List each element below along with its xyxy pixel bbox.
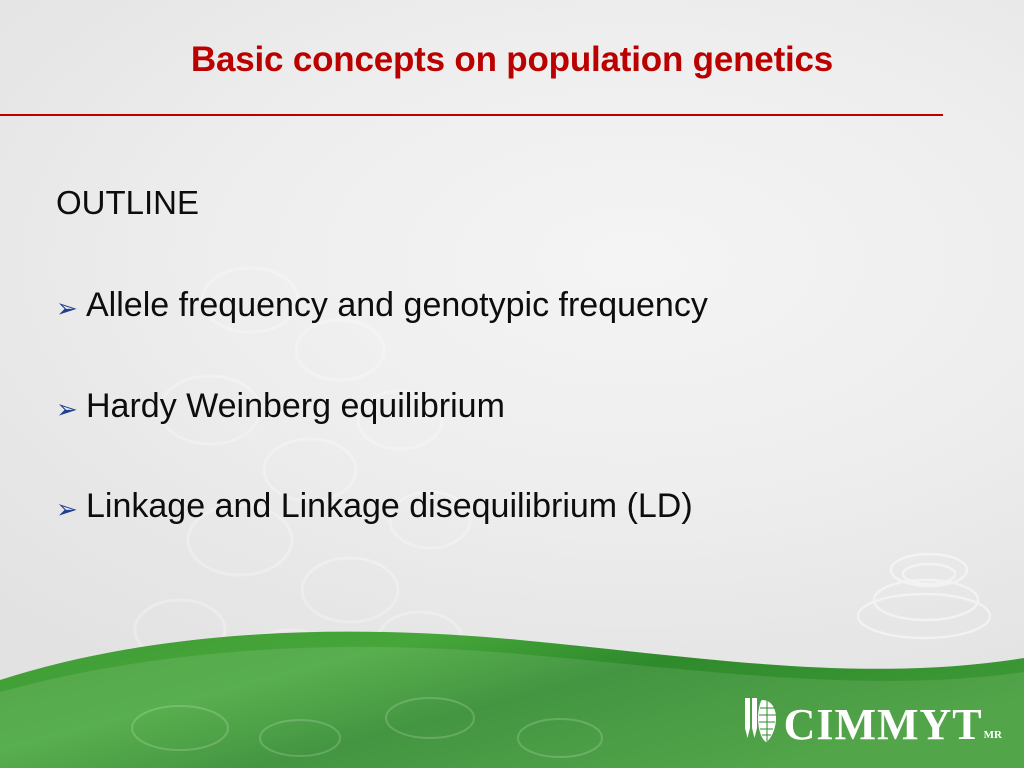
list-item-label: Hardy Weinberg equilibrium [86,388,505,425]
list-item: ➢ Allele frequency and genotypic frequen… [56,287,986,324]
chevron-bullet-icon: ➢ [56,388,86,423]
cimmyt-logo: CIMMYT MR [742,694,1002,746]
list-item-label: Linkage and Linkage disequilibrium (LD) [86,488,693,525]
logo-trademark: MR [983,729,1002,746]
list-item-label: Allele frequency and genotypic frequency [86,287,708,324]
slide-body: OUTLINE ➢ Allele frequency and genotypic… [56,185,986,588]
list-item: ➢ Linkage and Linkage disequilibrium (LD… [56,488,986,525]
page-title: Basic concepts on population genetics [0,40,1024,80]
chevron-bullet-icon: ➢ [56,488,86,523]
title-divider [0,114,943,116]
list-item: ➢ Hardy Weinberg equilibrium [56,388,986,425]
chevron-bullet-icon: ➢ [56,287,86,322]
slide: Basic concepts on population genetics OU… [0,0,1024,768]
outline-heading: OUTLINE [56,185,986,221]
maize-cob-icon [742,694,782,746]
logo-wordmark: CIMMYT [784,704,983,746]
